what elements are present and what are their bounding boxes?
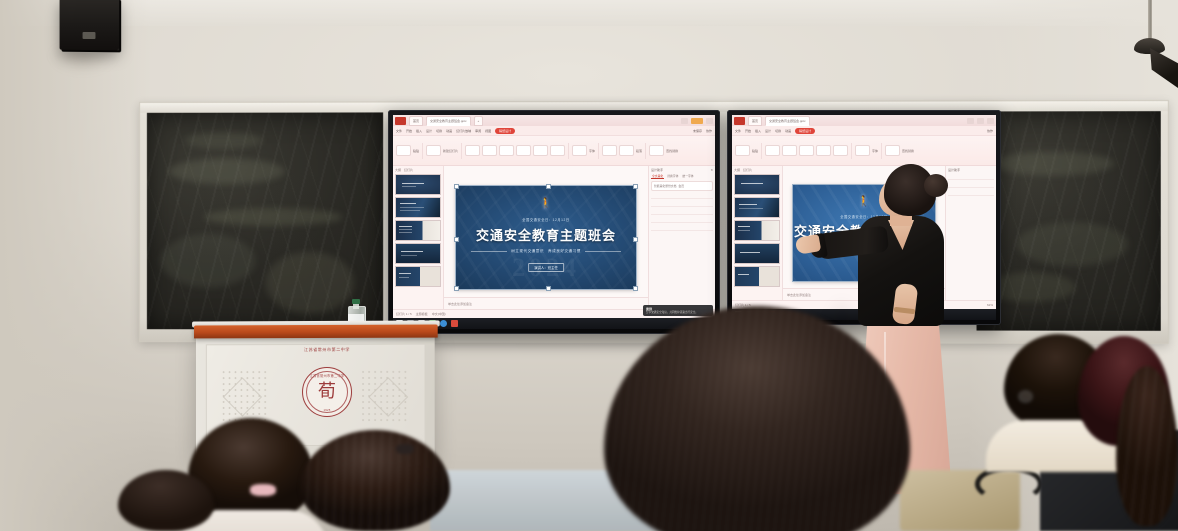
wps-tab-active[interactable]: 交通安全教育主题班会.pptx [765, 116, 810, 126]
student-left-c [118, 470, 214, 531]
status-badge: 会员 [678, 184, 684, 188]
linespacing-button[interactable] [619, 145, 634, 156]
paste-button[interactable] [735, 145, 750, 156]
ribbon-label: 新建幻灯片 [443, 149, 458, 153]
list-item[interactable]: 5 [734, 266, 780, 287]
shape-button[interactable] [482, 145, 497, 156]
resize-handle[interactable] [546, 184, 551, 189]
shape-button[interactable] [465, 145, 480, 156]
menu-collaborate[interactable]: 协作 [706, 129, 712, 133]
list-item[interactable]: 2 [395, 197, 441, 218]
outline-tab[interactable]: 大纲 [734, 168, 740, 172]
minimize-button[interactable] [967, 118, 974, 124]
speaker-shadow [52, 48, 130, 88]
shape-button[interactable] [833, 145, 848, 156]
shape-button[interactable] [765, 145, 780, 156]
list-item[interactable] [651, 193, 713, 199]
eyeglasses-icon [1018, 390, 1033, 403]
menu-save-state: 未保存 [693, 129, 702, 133]
resize-handle[interactable] [633, 184, 638, 189]
bullets-button[interactable] [602, 145, 617, 156]
tab-beautify[interactable]: 全文美化 [651, 174, 664, 179]
list-item[interactable]: 5 [395, 266, 441, 287]
menu-member-badge[interactable]: 稿纸设计 [495, 128, 515, 134]
blackboard-panel-right [977, 111, 1161, 331]
blackboard-panel-left [147, 112, 383, 329]
wps-menubar: 文件 开始 插入 设计 切换 动画 幻灯片放映 审阅 视图 稿纸设计 未保存 协… [393, 126, 715, 136]
slides-tab[interactable]: 幻灯片 [404, 168, 413, 172]
list-item[interactable] [651, 217, 713, 223]
ribbon-group-shapes [465, 145, 565, 156]
menu-member-badge[interactable]: 稿纸设计 [795, 128, 815, 134]
ribbon-label: 粘贴 [413, 149, 419, 153]
ribbon-label: 查找替换 [666, 149, 678, 153]
ribbon-group-paragraph: 段落 [602, 145, 642, 156]
list-item[interactable]: 2 [734, 197, 780, 218]
thumbnail-panel-tabs: 大纲 幻灯片 [395, 168, 441, 172]
shape-button[interactable] [782, 145, 797, 156]
slide-stage[interactable]: 2024 🚶 全国交通安全日：12月12日 交通安全教育主题班会 树立现代交通意… [444, 166, 648, 309]
resize-handle[interactable] [454, 184, 459, 189]
lectern-ledge [194, 324, 438, 338]
list-item[interactable]: 4 [734, 243, 780, 264]
wps-ribbon: 粘贴 字体 查找替换 [732, 136, 996, 166]
notes-pane[interactable]: 单击此处添加备注 [444, 297, 648, 309]
menu-item[interactable]: 动画 [446, 129, 452, 133]
menu-item[interactable]: 开始 [745, 129, 751, 133]
emblem-top-text: 江苏省常州市第二中学 [303, 372, 351, 377]
screen-left[interactable]: 首页 交通安全教育主题班会.pptx + 文件 开始 插入 设计 切换 动画 幻… [388, 110, 720, 334]
ribbon-group-font: 字体 [572, 145, 595, 156]
find-button[interactable] [649, 145, 664, 156]
resize-handle[interactable] [633, 237, 638, 242]
slide-title: 交通安全教育主题班会 [456, 225, 636, 244]
ribbon-label: 字体 [589, 149, 595, 153]
list-item[interactable]: 1 [395, 174, 441, 195]
wps-tab-add[interactable]: + [474, 116, 484, 126]
outline-tab[interactable]: 大纲 [395, 168, 401, 172]
ribbon-label: 字体 [872, 149, 878, 153]
panel-title: 设计助手 [651, 168, 663, 172]
ceiling-camera-pole [1148, 0, 1152, 40]
list-item[interactable] [651, 225, 713, 231]
minimize-button[interactable] [681, 118, 688, 124]
bottle-cap [352, 299, 360, 304]
menu-item[interactable]: 开始 [406, 129, 412, 133]
list-item[interactable] [651, 201, 713, 207]
ribbon-group-font: 字体 [855, 145, 878, 156]
tab-unify-font[interactable]: 统一字体 [681, 174, 694, 179]
school-emblem-icon: 江苏省常州市第二中学 荀 1925 [302, 367, 352, 417]
menu-item[interactable]: 文件 [735, 129, 741, 133]
school-name-label: 江苏省常州市第二中学 [294, 347, 360, 353]
windows-taskbar [393, 318, 715, 329]
hair-clip [250, 484, 276, 496]
menu-item[interactable]: 审阅 [475, 129, 481, 133]
status-language: 中文(中国) [432, 312, 446, 316]
shape-button[interactable] [799, 145, 814, 156]
student-right-c [1116, 366, 1178, 531]
maximize-button[interactable] [691, 118, 703, 124]
presenter-hair-bun [924, 174, 948, 197]
resize-handle[interactable] [633, 286, 638, 291]
list-item[interactable]: 1 [734, 174, 780, 195]
classroom-photo: 首页 交通安全教育主题班会.pptx + 文件 开始 插入 设计 切换 动画 幻… [0, 0, 1178, 531]
list-item[interactable]: 3 [734, 220, 780, 241]
student-left-b [300, 430, 450, 531]
panel-header: 设计助手 ✕ [651, 168, 713, 172]
browser-icon[interactable] [440, 320, 447, 327]
menu-item[interactable]: 动画 [785, 129, 791, 133]
wps-tabbar: 首页 交通安全教育主题班会.pptx [732, 115, 996, 126]
ribbon-group-find: 查找替换 [649, 145, 678, 156]
design-assistant-panel[interactable]: 设计助手 ✕ 全文美化 替换字体 统一字体 智能美化整份文档 会员 [648, 166, 715, 309]
toast-body: 分享交通安全知识，共同维护道路出行安全。 [646, 311, 710, 314]
slides-tab[interactable]: 幻灯片 [743, 168, 752, 172]
slide-subtitle: 树立现代交通意识 养成良好交通习惯 [511, 249, 581, 254]
find-button[interactable] [885, 145, 900, 156]
menu-item[interactable]: 插入 [755, 129, 761, 133]
panel-close-icon[interactable]: ✕ [710, 168, 713, 172]
close-button[interactable] [706, 118, 713, 124]
wps-menubar: 文件 开始 插入 设计 切换 动画 稿纸设计 协作 [732, 126, 996, 136]
list-item[interactable]: 4 [395, 243, 441, 264]
menu-item[interactable]: 切换 [775, 129, 781, 133]
resize-handle[interactable] [454, 237, 459, 242]
emblem-glyph: 荀 [318, 383, 336, 401]
emblem-bottom-text: 1925 [303, 408, 351, 412]
ribbon-group-paste: 粘贴 [735, 145, 758, 156]
slide-thumbnail-panel[interactable]: 大纲 幻灯片 1 2 [393, 166, 444, 309]
wps-tabbar: 首页 交通安全教育主题班会.pptx + [393, 115, 715, 126]
panel-tabs: 全文美化 替换字体 统一字体 [651, 174, 713, 179]
wall-speaker-icon [60, 0, 120, 50]
shape-button[interactable] [499, 145, 514, 156]
slide-canvas[interactable]: 2024 🚶 全国交通安全日：12月12日 交通安全教育主题班会 树立现代交通意… [456, 186, 636, 289]
ribbon-label: 粘贴 [752, 149, 758, 153]
bold-button[interactable] [572, 145, 587, 156]
menu-item[interactable]: 视图 [485, 129, 491, 133]
wps-ribbon: 粘贴 新建幻灯片 字体 [393, 136, 715, 166]
list-item[interactable] [651, 209, 713, 215]
shape-button[interactable] [816, 145, 831, 156]
pedestrian-icon: 🚶 [539, 199, 553, 210]
ribbon-group-shapes [765, 145, 848, 156]
status-template: 主题模板 [416, 312, 428, 316]
slide-presenter-badge: 演讲人：班主任 [528, 263, 564, 272]
wps-tab[interactable]: 首页 [748, 116, 762, 126]
new-slide-button[interactable] [426, 145, 441, 156]
shape-button[interactable] [516, 145, 531, 156]
menu-item[interactable]: 幻灯片放映 [456, 129, 471, 133]
menu-item[interactable]: 文件 [396, 129, 402, 133]
menu-item[interactable]: 插入 [416, 129, 422, 133]
list-item[interactable]: 3 [395, 220, 441, 241]
hair-tie [396, 444, 414, 454]
card-label: 智能美化整份文档 [654, 184, 676, 188]
wps-icon[interactable] [451, 320, 458, 327]
ribbon-label: 段落 [636, 149, 642, 153]
notes-placeholder: 单击此处添加备注 [448, 302, 472, 306]
ribbon-group-find: 查找替换 [885, 145, 914, 156]
bold-button[interactable] [855, 145, 870, 156]
wps-tab-active[interactable]: 交通安全教育主题班会.pptx [426, 116, 471, 126]
slide-subtitle-row: 树立现代交通意识 养成良好交通习惯 [471, 249, 622, 254]
tab-replace-font[interactable]: 替换字体 [666, 174, 679, 179]
notes-placeholder: 单击此处添加备注 [787, 293, 811, 297]
menu-item[interactable]: 设计 [426, 129, 432, 133]
menu-item[interactable]: 设计 [765, 129, 771, 133]
wps-window-left: 首页 交通安全教育主题班会.pptx + 文件 开始 插入 设计 切换 动画 幻… [393, 115, 715, 329]
menu-collaborate[interactable]: 协作 [987, 129, 993, 133]
slide-kicker: 全国交通安全日：12月12日 [456, 217, 636, 222]
ribbon-group-paste: 粘贴 [396, 145, 419, 156]
maximize-button[interactable] [977, 118, 984, 124]
slide-thumbnail-panel[interactable]: 大纲 幻灯片 1 2 [732, 166, 783, 300]
shape-button[interactable] [550, 145, 565, 156]
close-button[interactable] [987, 118, 994, 124]
wps-workspace: 大纲 幻灯片 1 2 [393, 166, 715, 309]
wps-logo-icon [395, 117, 406, 125]
status-slide-info: 幻灯片 1 / 5 [396, 312, 412, 316]
ribbon-group-new-slide: 新建幻灯片 [426, 145, 458, 156]
zoom-level[interactable]: 62% [987, 303, 993, 307]
ribbon-label: 查找替换 [902, 149, 914, 153]
thumbnail-panel-tabs: 大纲 幻灯片 [734, 168, 780, 172]
wps-logo-icon [734, 117, 745, 125]
menu-item[interactable]: 切换 [436, 129, 442, 133]
beautify-card[interactable]: 智能美化整份文档 会员 [651, 181, 713, 191]
wps-tab[interactable]: 首页 [409, 116, 423, 126]
resize-handle[interactable] [454, 286, 459, 291]
resize-handle[interactable] [546, 286, 551, 291]
shape-button[interactable] [533, 145, 548, 156]
ceiling-camera-icon [1134, 38, 1165, 54]
paste-button[interactable] [396, 145, 411, 156]
